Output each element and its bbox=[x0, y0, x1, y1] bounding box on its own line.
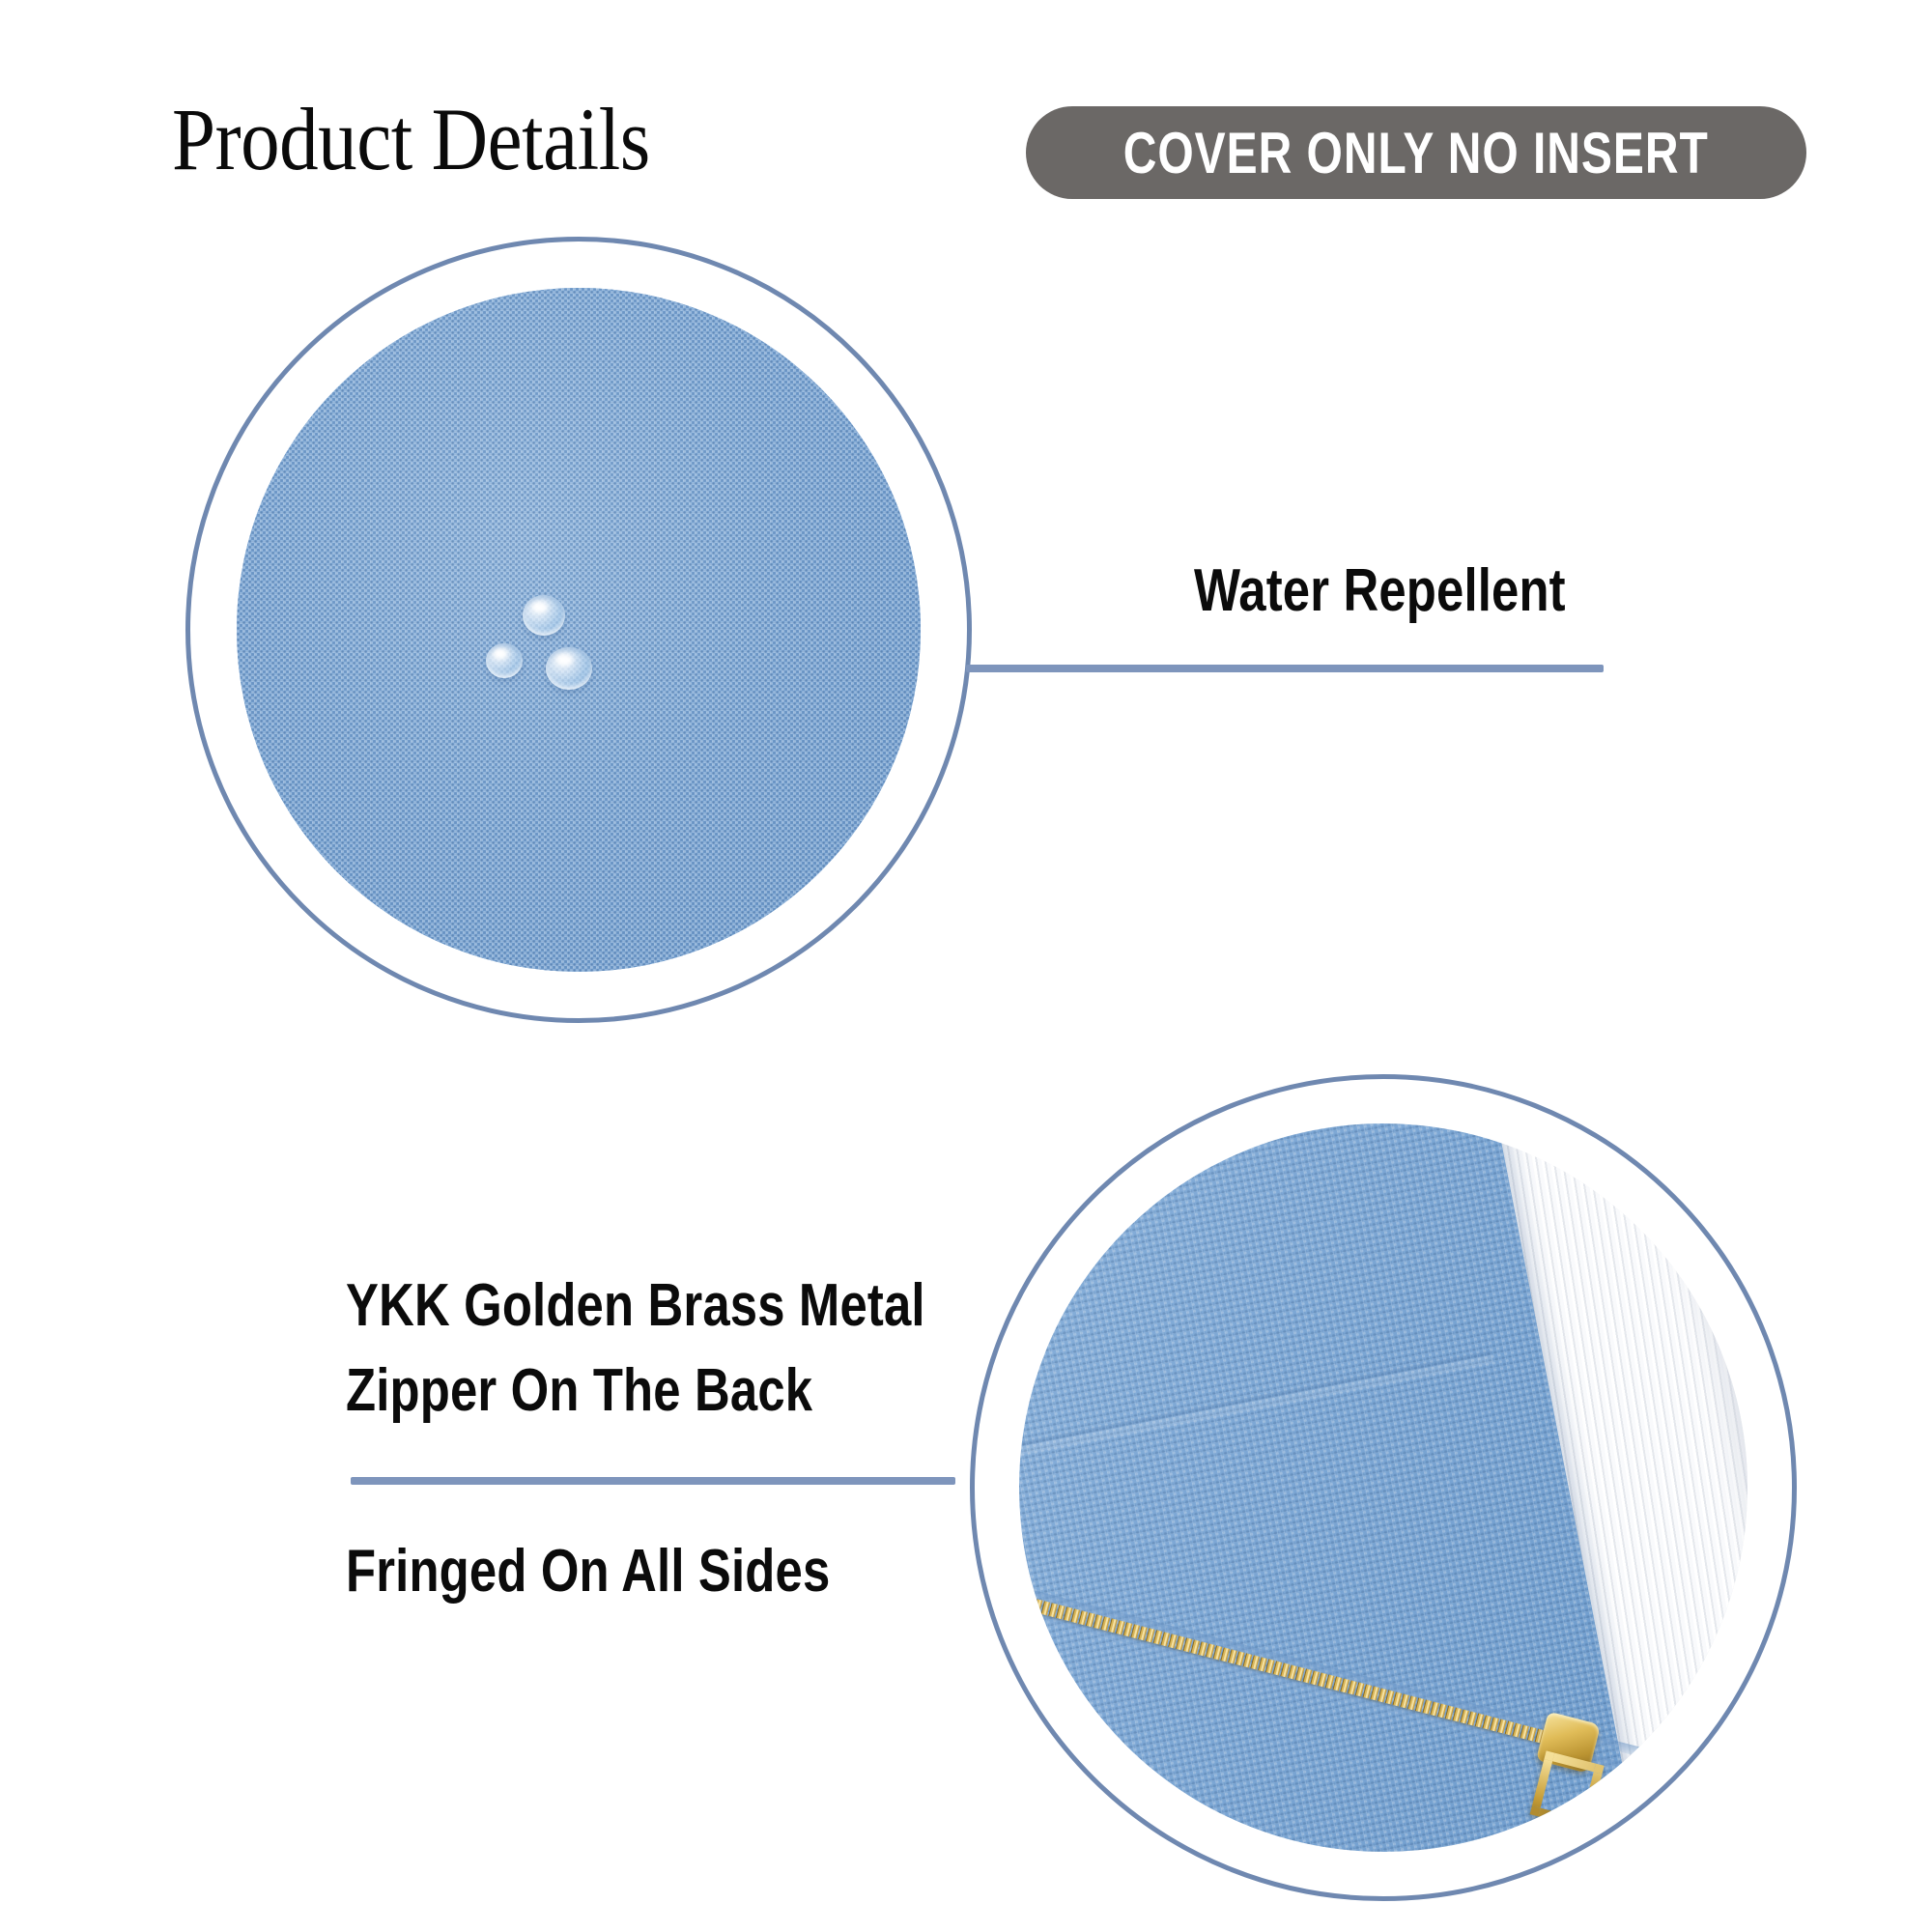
connector-line-zipper-fringe bbox=[351, 1477, 955, 1485]
callout-label-fringed: Fringed On All Sides bbox=[346, 1536, 830, 1607]
cushion-cover-photo bbox=[1019, 1123, 1747, 1852]
callout-label-ykk-zipper: YKK Golden Brass Metal Zipper On The Bac… bbox=[346, 1264, 925, 1434]
water-droplet-icon bbox=[523, 595, 565, 636]
fabric-swatch-photo bbox=[237, 288, 921, 972]
callout-label-water-repellent: Water Repellent bbox=[1194, 555, 1566, 627]
connector-line-water-repellent bbox=[966, 665, 1604, 672]
page-title: Product Details bbox=[172, 89, 650, 189]
zipper-fringe-photo bbox=[1019, 1123, 1747, 1852]
infographic-canvas: Product Details COVER ONLY NO INSERT Wat… bbox=[0, 0, 1932, 1932]
callout-circle-zipper-fringe bbox=[970, 1074, 1797, 1901]
water-droplet-icon bbox=[546, 647, 592, 690]
status-badge: COVER ONLY NO INSERT bbox=[1026, 106, 1806, 199]
callout-circle-water-repellent bbox=[185, 237, 972, 1023]
water-droplet-icon bbox=[486, 643, 523, 678]
woven-fabric-texture bbox=[237, 288, 921, 972]
status-badge-label: COVER ONLY NO INSERT bbox=[1123, 120, 1709, 186]
